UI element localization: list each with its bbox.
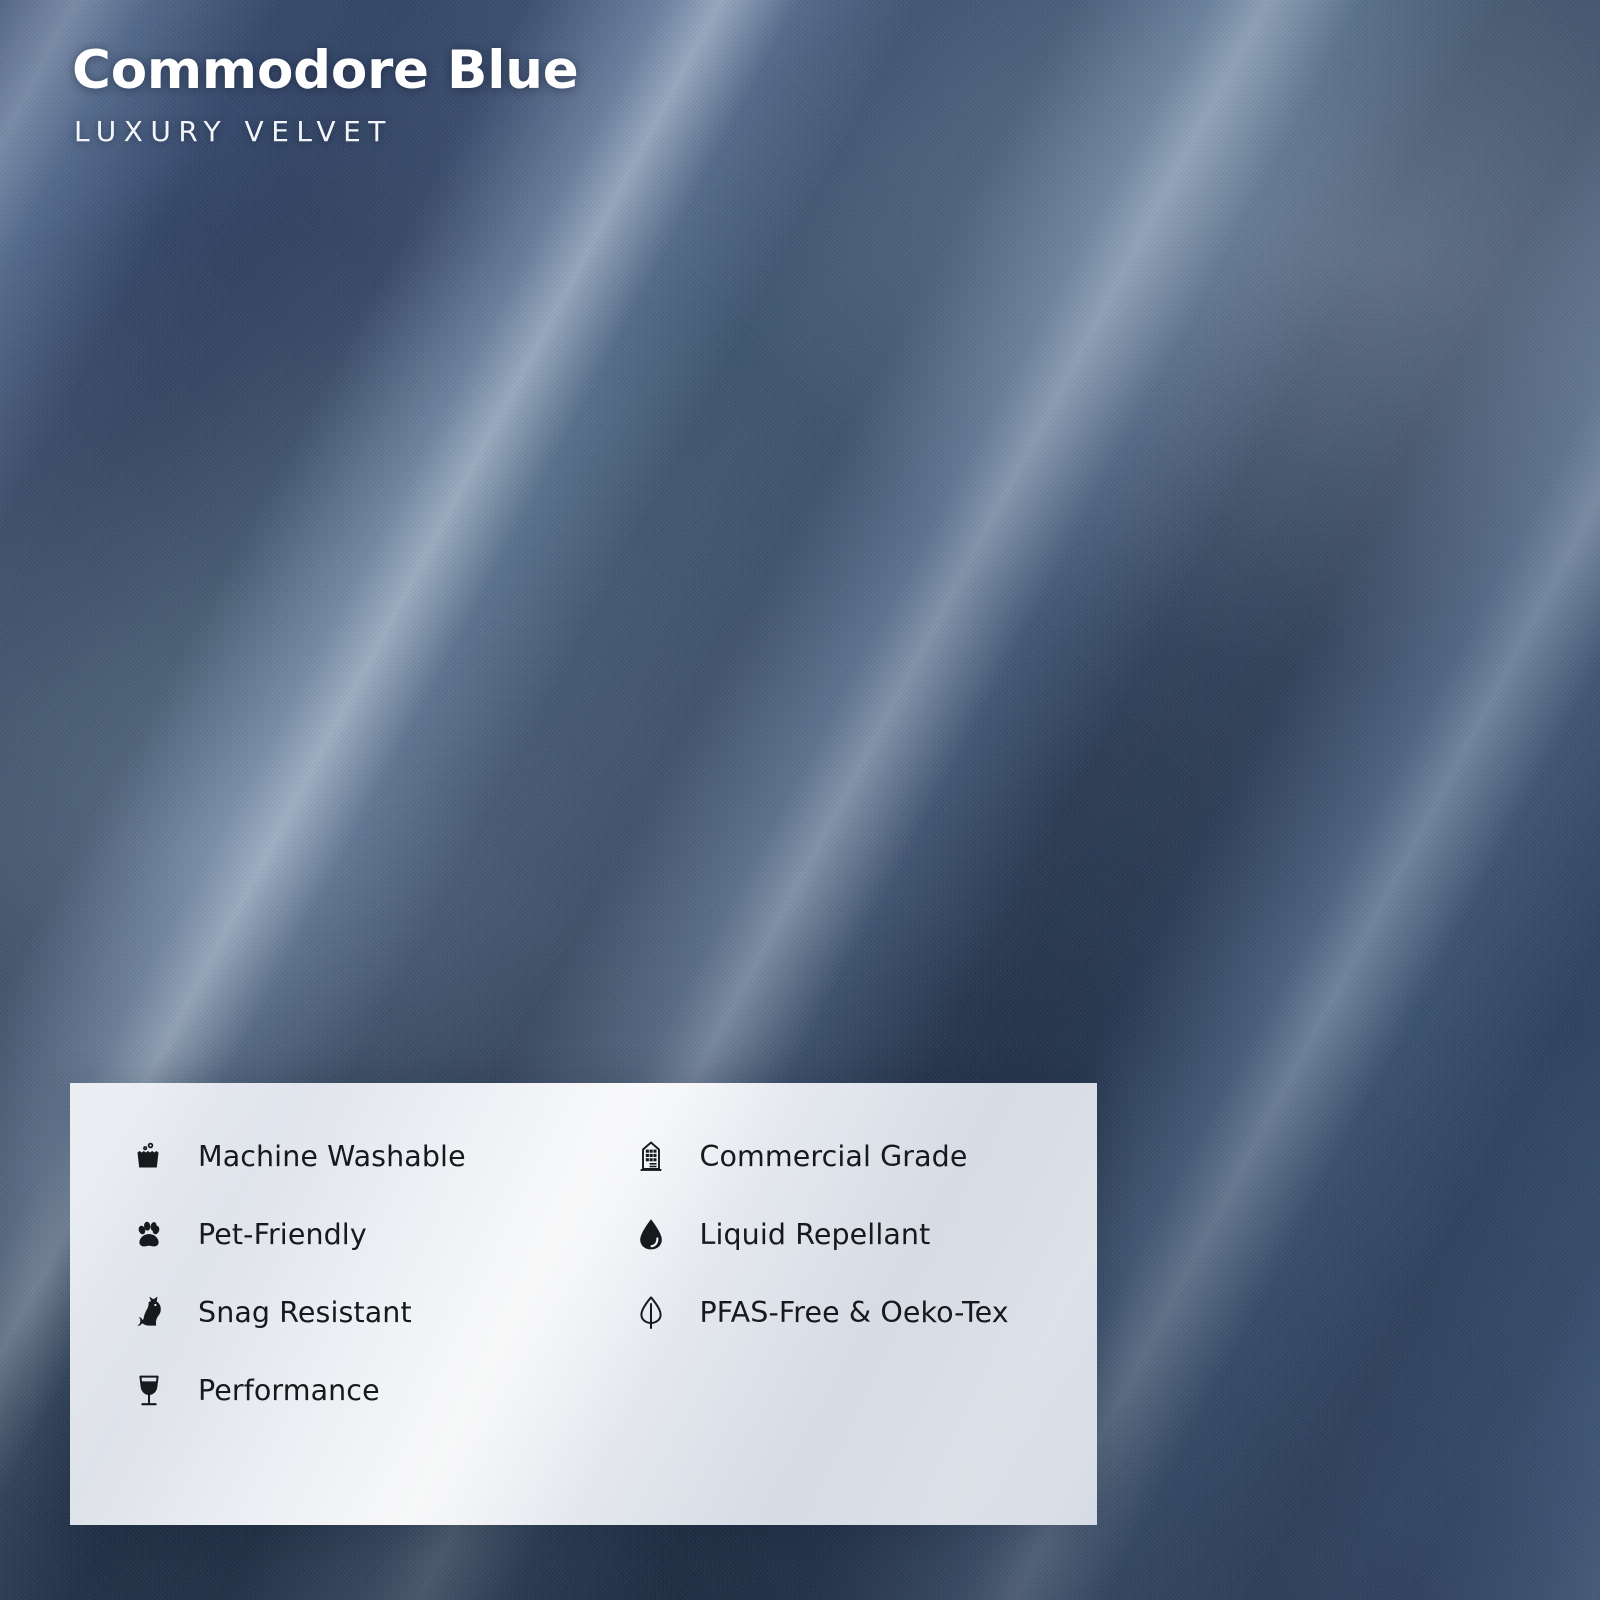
feature-item-liquid-repellant: Liquid Repellant <box>584 1195 1098 1273</box>
feature-label: Snag Resistant <box>198 1296 412 1329</box>
product-category-label: LUXURY VELVET <box>74 115 579 148</box>
paw-print-icon <box>126 1211 172 1257</box>
feature-label: PFAS-Free & Oeko-Tex <box>700 1296 1009 1329</box>
washing-tub-icon <box>126 1133 172 1179</box>
feature-label: Pet-Friendly <box>198 1218 367 1251</box>
feature-label: Performance <box>198 1374 380 1407</box>
wine-glass-icon <box>126 1367 172 1413</box>
office-building-icon <box>628 1133 674 1179</box>
feature-item-machine-washable: Machine Washable <box>70 1117 584 1195</box>
feature-panel: Machine Washable <box>70 1083 1097 1525</box>
feature-label: Liquid Repellant <box>700 1218 931 1251</box>
feature-item-commercial-grade: Commercial Grade <box>584 1117 1098 1195</box>
leaf-icon <box>628 1289 674 1335</box>
header-block: Commodore Blue LUXURY VELVET <box>72 40 579 148</box>
feature-item-pet-friendly: Pet-Friendly <box>70 1195 584 1273</box>
page-title: Commodore Blue <box>72 40 579 103</box>
feature-label: Machine Washable <box>198 1140 466 1173</box>
fabric-swatch-card: Commodore Blue LUXURY VELVET Machine Was… <box>0 0 1600 1600</box>
water-droplet-icon <box>628 1211 674 1257</box>
sitting-cat-icon <box>126 1289 172 1335</box>
feature-item-pfas-free-oeko-tex: PFAS-Free & Oeko-Tex <box>584 1273 1098 1351</box>
feature-item-performance: Performance <box>70 1351 584 1429</box>
feature-item-snag-resistant: Snag Resistant <box>70 1273 584 1351</box>
feature-label: Commercial Grade <box>700 1140 968 1173</box>
